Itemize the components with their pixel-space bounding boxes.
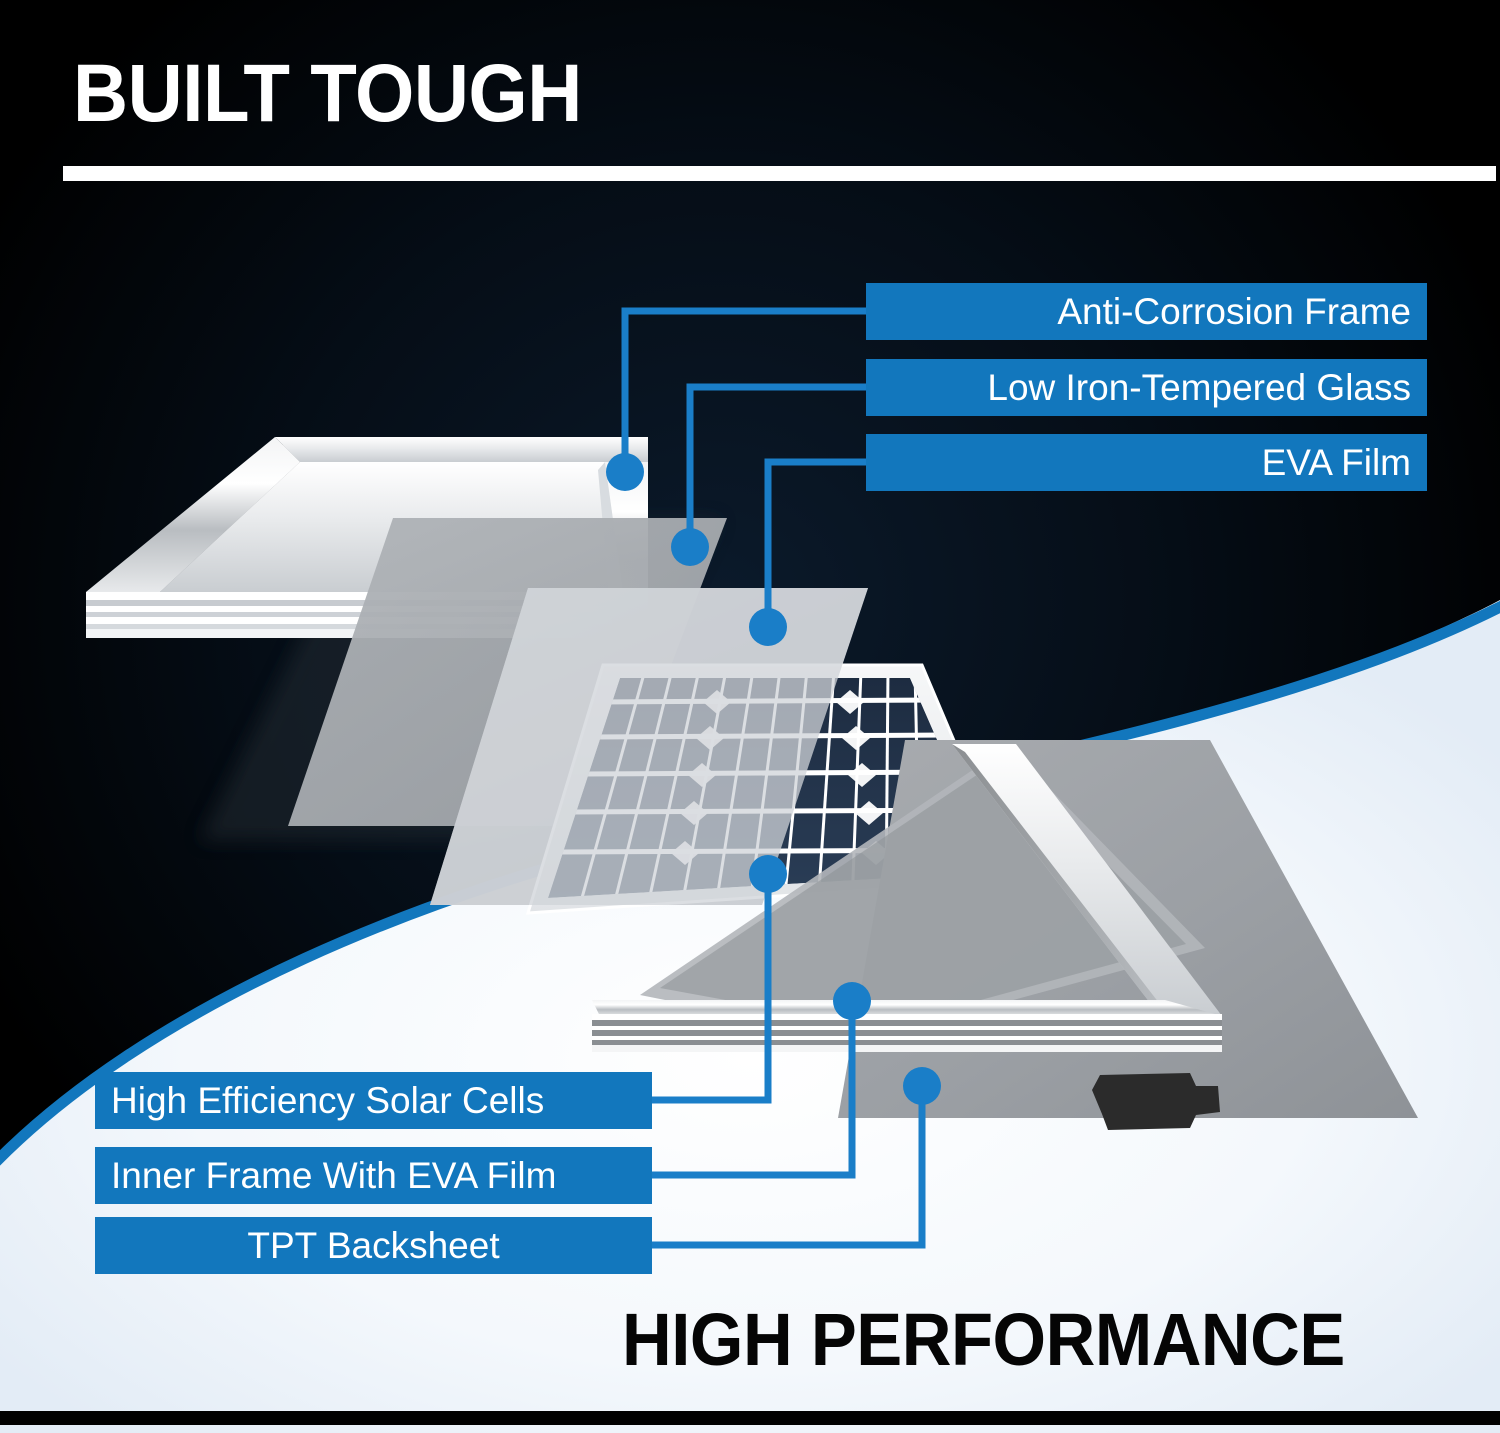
leader-end-dots — [606, 453, 941, 1105]
title-rule-bottom — [0, 1411, 1500, 1425]
callout-high-efficiency-solar-cells[interactable]: High Efficiency Solar Cells — [95, 1072, 652, 1129]
leader-low-iron-tempered-glass — [690, 387, 866, 545]
callout-tpt-backsheet[interactable]: TPT Backsheet — [95, 1217, 652, 1274]
leader-high-efficiency-solar-cells — [652, 880, 768, 1100]
callout-anti-corrosion-frame[interactable]: Anti-Corrosion Frame — [866, 283, 1427, 340]
callout-inner-frame-with-eva-film[interactable]: Inner Frame With EVA Film — [95, 1147, 652, 1204]
leader-eva-film — [768, 462, 866, 625]
leader-tpt-backsheet — [652, 1090, 922, 1245]
callout-eva-film[interactable]: EVA Film — [866, 434, 1427, 491]
page-title-built-tough: BUILT TOUGH — [73, 46, 582, 142]
poster-canvas: BUILT TOUGH Anti-Corrosion Frame Low Iro… — [0, 0, 1500, 1433]
title-rule-top — [63, 166, 1496, 181]
page-title-high-performance: HIGH PERFORMANCE — [622, 1296, 1345, 1384]
callout-low-iron-tempered-glass[interactable]: Low Iron-Tempered Glass — [866, 359, 1427, 416]
leader-inner-frame-with-eva-film — [652, 1002, 852, 1175]
